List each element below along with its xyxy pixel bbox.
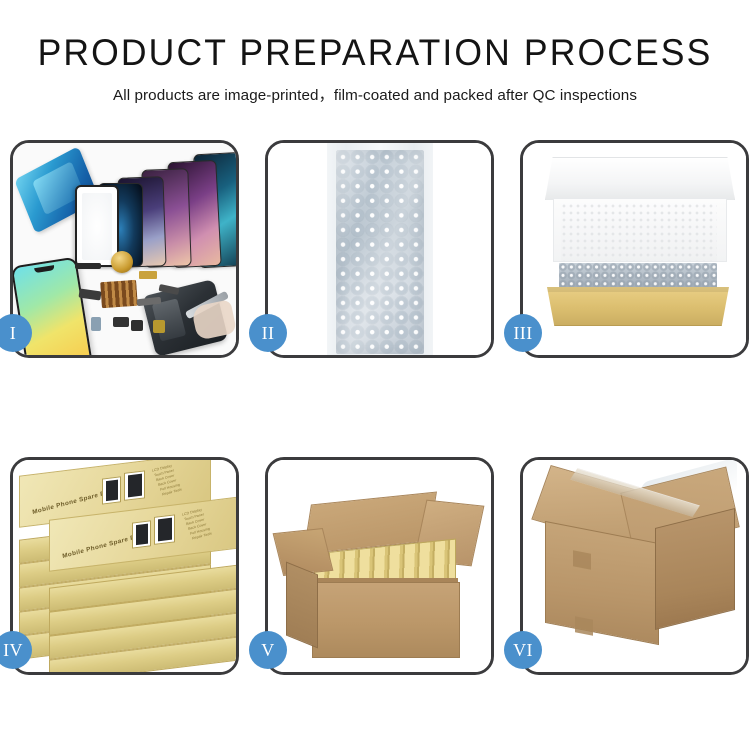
bubble-wrap-illustration: [268, 143, 491, 355]
open-carton-illustration: [268, 460, 491, 672]
speaker-module-icon: [111, 251, 133, 273]
step-badge-2: II: [249, 314, 287, 352]
bubble-wrapped-item-icon: [559, 263, 717, 289]
box-screen-thumb-front-1: [132, 520, 151, 548]
step-card-inner-box[interactable]: III: [520, 140, 749, 358]
step-image-phone-parts: [13, 143, 236, 355]
phone-screens-fan: [97, 149, 236, 267]
step-image-boxed-stack: Mobile Phone Spare Parts LCD Display Tou…: [13, 460, 236, 672]
step-card-carton-packing[interactable]: V: [265, 457, 494, 675]
step-badge-3: III: [504, 314, 542, 352]
part-gold-contact-icon: [139, 271, 157, 279]
carton-body-icon: [312, 582, 460, 658]
box-lid-flap-icon: [545, 157, 735, 200]
step-card-bubble-wrap[interactable]: II: [265, 140, 494, 358]
box-screen-thumb-back-1: [102, 476, 121, 504]
step-image-sealed-carton: [523, 460, 746, 672]
page-title: PRODUCT PREPARATION PROCESS: [15, 34, 735, 73]
step-card-boxed-stack[interactable]: Mobile Phone Spare Parts LCD Display Tou…: [10, 457, 239, 675]
bubble-wrap-icon: [336, 150, 424, 354]
sealed-carton-illustration: [523, 460, 746, 672]
step-image-inner-box: [523, 143, 746, 355]
foam-padding-icon: [561, 203, 717, 261]
page-header: PRODUCT PREPARATION PROCESS All products…: [0, 0, 750, 105]
step-badge-6: VI: [504, 631, 542, 669]
carton-right-icon: [655, 508, 735, 630]
connector-board-icon: [100, 280, 138, 308]
box-screen-thumb-front-2: [154, 514, 175, 545]
inner-box-illustration: [523, 143, 746, 355]
step-badge-5: V: [249, 631, 287, 669]
step-card-phone-parts[interactable]: I: [10, 140, 239, 358]
part-strip-icon: [75, 263, 101, 269]
carton-front-icon: [545, 521, 659, 645]
step-image-bubble-wrap: [268, 143, 491, 355]
box-stack-illustration: Mobile Phone Spare Parts LCD Display Tou…: [13, 460, 236, 672]
part-button-icon: [113, 317, 129, 327]
step-card-sealed-carton[interactable]: VI: [520, 457, 749, 675]
process-steps-grid: I II III: [10, 140, 750, 675]
part-battery-icon: [153, 320, 165, 333]
box-screen-thumb-back-2: [124, 470, 145, 501]
carton-seal-lower-icon: [575, 616, 593, 635]
page-subtitle: All products are image-printed，film-coat…: [0, 83, 750, 105]
carton-seal-upper-icon: [573, 550, 591, 569]
phone-parts-illustration: [13, 143, 236, 355]
part-sim-tray-icon: [91, 317, 101, 331]
step-image-carton-packing: [268, 460, 491, 672]
part-camera-icon: [131, 320, 143, 331]
kraft-box-base-icon: [547, 287, 729, 326]
carton-side-icon: [286, 562, 318, 649]
